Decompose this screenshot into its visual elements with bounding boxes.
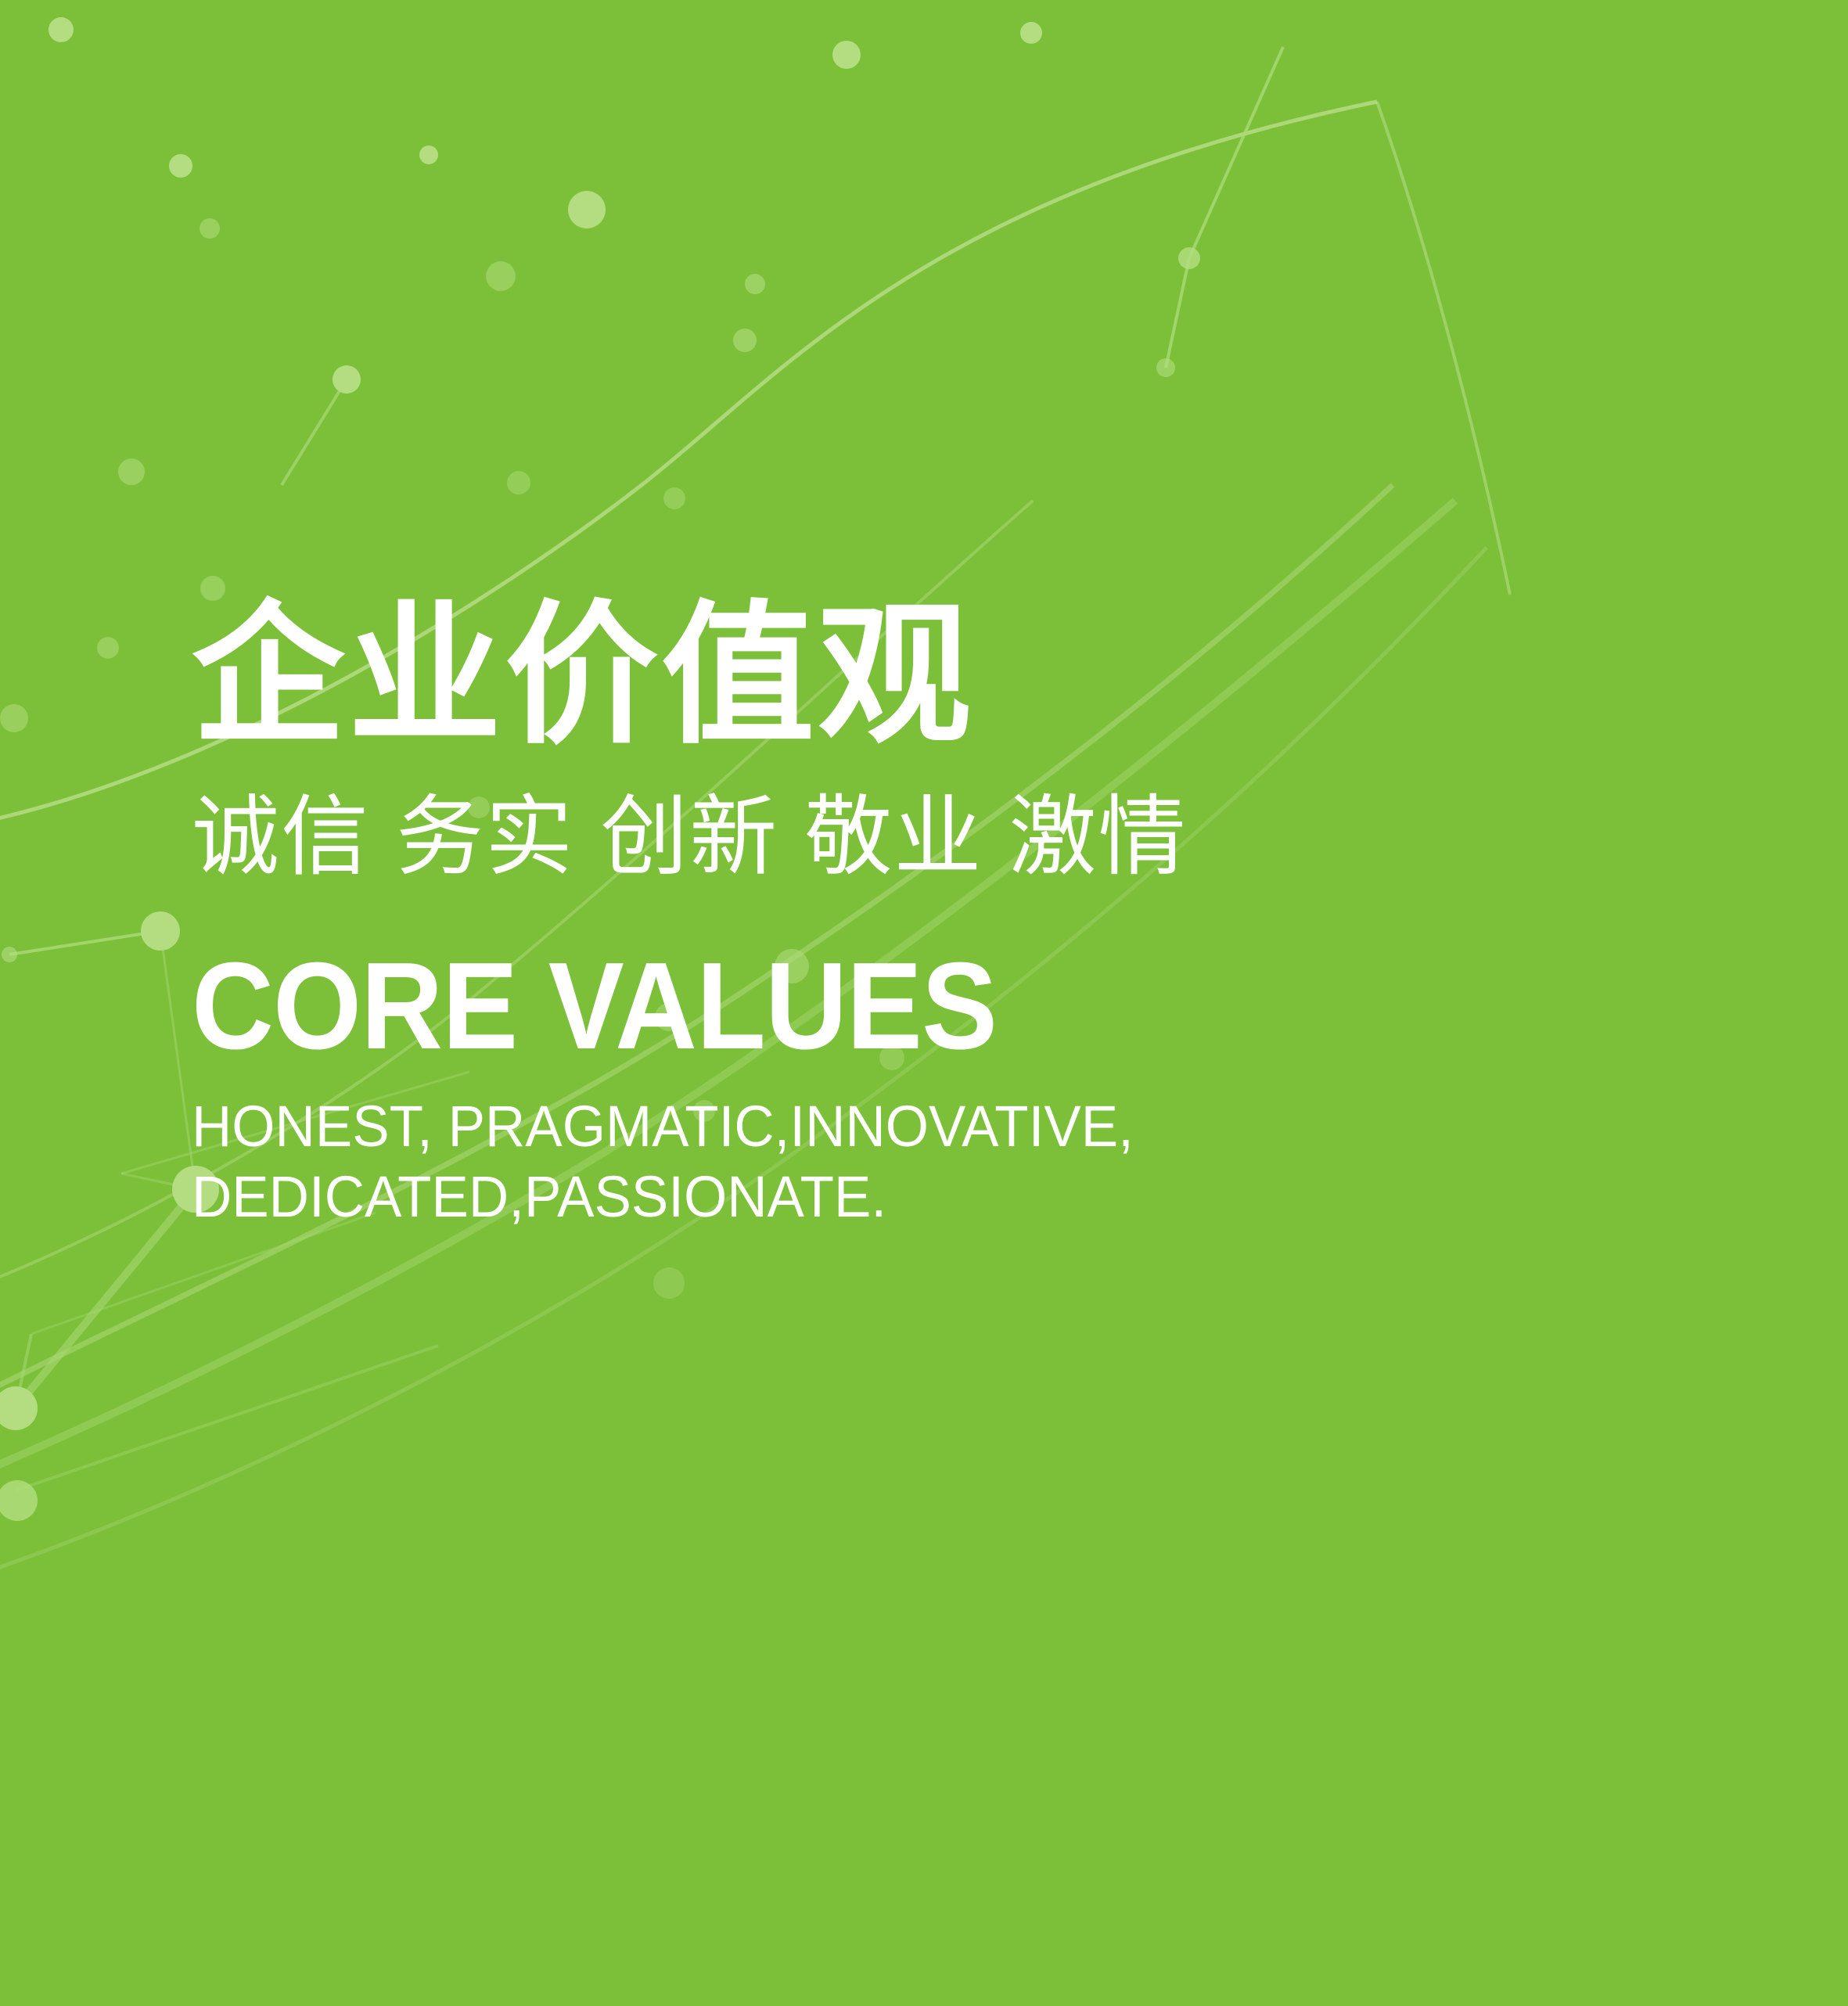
values-list-cn: 诚信 务实 创新 敬业 激情 bbox=[192, 782, 1678, 892]
node-dot bbox=[507, 471, 530, 494]
page-title-cn: 企业价值观 bbox=[192, 595, 1678, 757]
node-dot bbox=[568, 191, 606, 228]
values-list-en-line2: DEDICATED,PASSIONATE. bbox=[192, 1162, 1619, 1232]
node-dot bbox=[663, 487, 685, 509]
node-dot bbox=[141, 911, 180, 951]
node-dot bbox=[0, 1386, 38, 1430]
node-dot bbox=[49, 17, 74, 42]
node-dot bbox=[1156, 358, 1175, 377]
node-dot bbox=[745, 274, 765, 294]
node-dot bbox=[169, 154, 192, 178]
node-dot bbox=[653, 1267, 685, 1299]
node-dot bbox=[0, 704, 28, 732]
node-dot bbox=[1178, 247, 1200, 269]
node-dot bbox=[333, 365, 361, 394]
node-dot bbox=[200, 218, 220, 239]
node-dot bbox=[832, 41, 861, 69]
poster-text-block: 企业价值观 诚信 务实 创新 敬业 激情 CORE VALUES HONEST,… bbox=[192, 595, 1678, 1232]
node-dot bbox=[118, 458, 145, 485]
node-dot bbox=[486, 261, 516, 291]
node-dot bbox=[2, 947, 17, 962]
node-dot bbox=[733, 329, 757, 352]
node-dot bbox=[0, 1480, 38, 1521]
node-dot bbox=[97, 637, 119, 659]
core-values-poster: 企业价值观 诚信 务实 创新 敬业 激情 CORE VALUES HONEST,… bbox=[0, 0, 1848, 2006]
values-list-en-line1: HONEST, PRAGMATIC,INNOVATIVE, bbox=[192, 1091, 1619, 1162]
page-title-en: CORE VALUES bbox=[192, 944, 1559, 1070]
node-dot bbox=[419, 146, 438, 164]
node-dot bbox=[1020, 22, 1042, 44]
values-list-en: HONEST, PRAGMATIC,INNOVATIVE, DEDICATED,… bbox=[192, 1091, 1619, 1233]
